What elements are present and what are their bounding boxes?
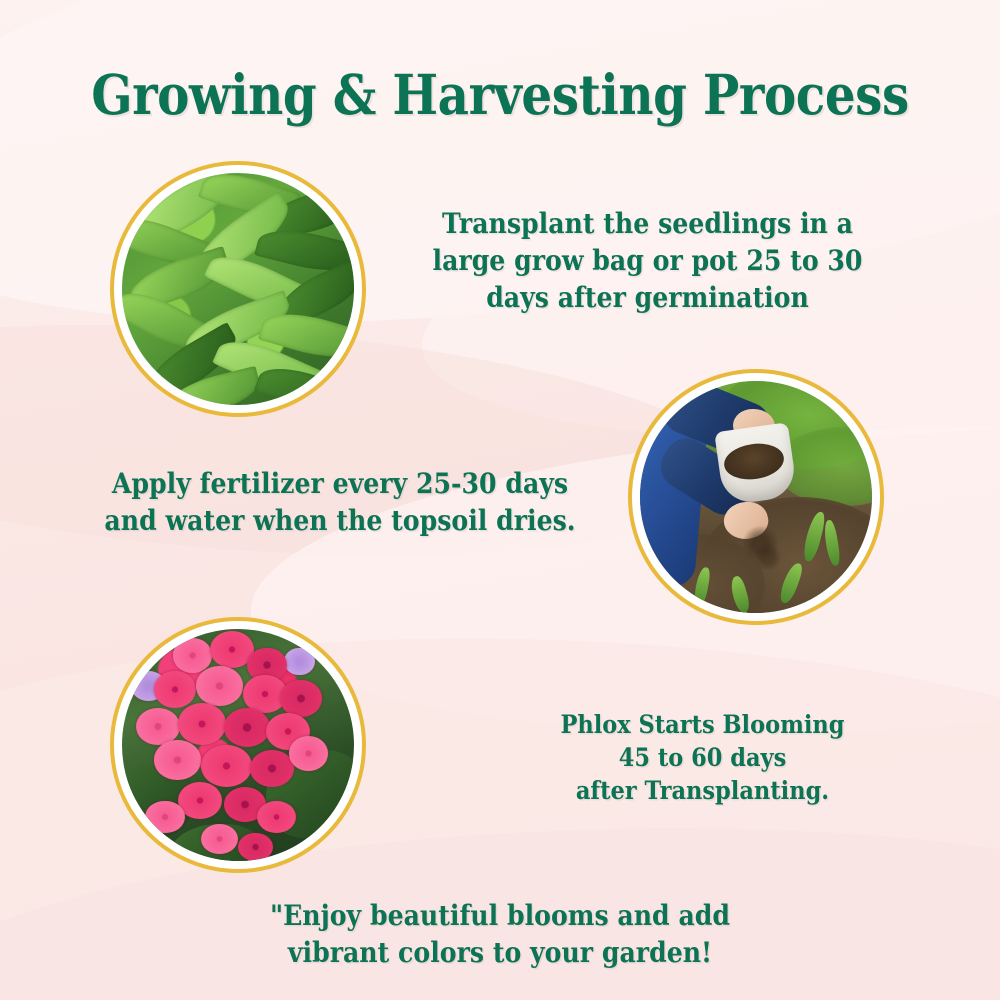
poster-canvas: Growing & Harvesting Process Transplant … xyxy=(0,0,1000,1000)
step-blooming-caption-line-1: Phlox Starts Blooming xyxy=(525,708,881,741)
step-blooming-photo-frame xyxy=(110,617,366,873)
step-fertilizing-caption: Apply fertilizer every 25-30 days and wa… xyxy=(88,466,592,540)
footer-caption-line-2: vibrant colors to your garden! xyxy=(266,935,734,972)
footer-caption: "Enjoy beautiful blooms and add vibrant … xyxy=(266,898,734,972)
step-transplanting-caption: Transplant the seedlings in a large grow… xyxy=(416,206,880,317)
step-transplanting-photo-frame xyxy=(110,161,366,417)
green-phlox-foliage-photo xyxy=(122,173,354,405)
step-blooming-caption: Phlox Starts Blooming 45 to 60 days afte… xyxy=(525,708,881,807)
page-title: Growing & Harvesting Process xyxy=(60,62,940,127)
step-fertilizing-photo-frame xyxy=(628,369,884,625)
pink-phlox-blooms-photo xyxy=(122,629,354,861)
step-blooming-caption-line-2: 45 to 60 days xyxy=(525,741,881,774)
footer-caption-line-1: "Enjoy beautiful blooms and add xyxy=(266,898,734,935)
hand-spreading-fertilizer-photo xyxy=(640,381,872,613)
step-blooming-caption-line-3: after Transplanting. xyxy=(525,774,881,807)
